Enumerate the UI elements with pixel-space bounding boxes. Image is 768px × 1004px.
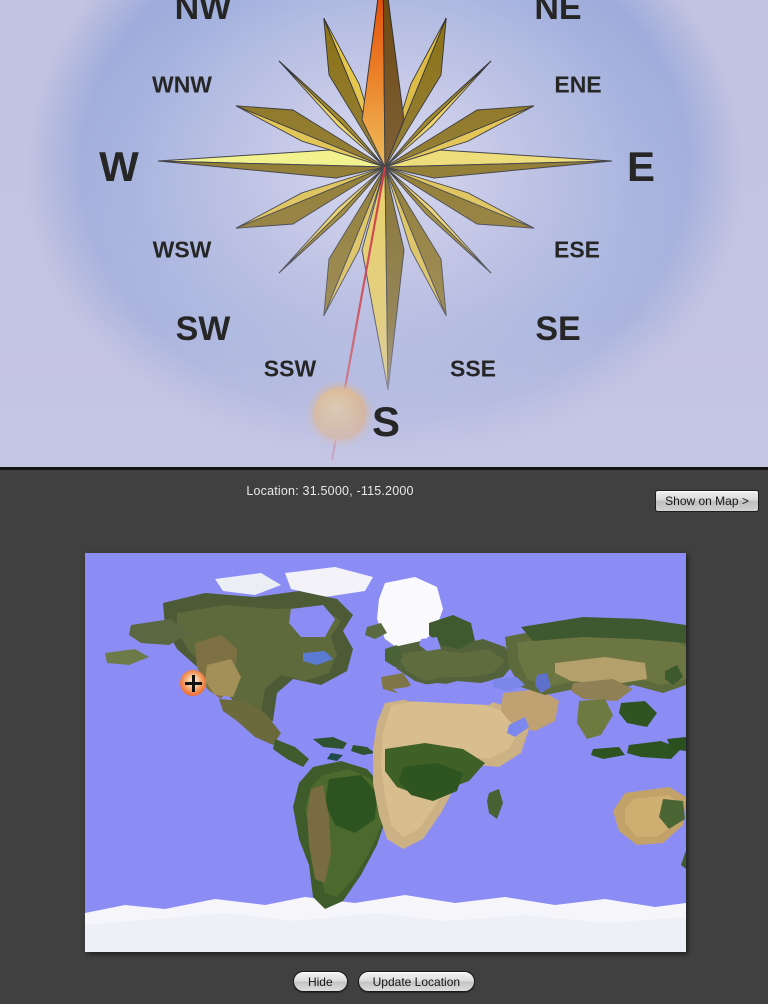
direction-label-e: E (627, 146, 655, 188)
direction-label-sw: SW (176, 312, 231, 346)
crosshair-vertical (192, 675, 195, 692)
location-marker[interactable] (180, 670, 206, 696)
direction-label-ne: NE (534, 0, 581, 25)
direction-label-ene: ENE (554, 74, 601, 97)
world-map-image (85, 553, 686, 952)
direction-label-wsw: WSW (153, 239, 212, 262)
location-bar: Location: 31.5000, -115.2000 Show on Map… (0, 470, 768, 525)
direction-label-s: S (372, 401, 400, 443)
sun-disc (314, 388, 366, 440)
world-map[interactable] (85, 553, 686, 952)
show-on-map-button[interactable]: Show on Map > (655, 490, 759, 512)
direction-label-wnw: WNW (152, 74, 212, 97)
direction-label-ese: ESE (554, 239, 600, 262)
direction-label-w: W (99, 146, 139, 188)
location-readout: Location: 31.5000, -115.2000 (0, 484, 660, 498)
bottom-button-bar: Hide Update Location (0, 966, 768, 1004)
app-root: NWNEWNWENEWEWSWESESWSESSWSSES Location: … (0, 0, 768, 1004)
direction-label-se: SE (535, 312, 580, 346)
direction-label-ssw: SSW (264, 358, 316, 381)
compass-panel: NWNEWNWENEWEWSWESESWSESSWSSES (0, 0, 768, 470)
update-location-button[interactable]: Update Location (358, 971, 475, 992)
compass-rose (0, 0, 768, 467)
direction-label-sse: SSE (450, 358, 496, 381)
hide-button[interactable]: Hide (293, 971, 348, 992)
direction-label-nw: NW (175, 0, 232, 25)
